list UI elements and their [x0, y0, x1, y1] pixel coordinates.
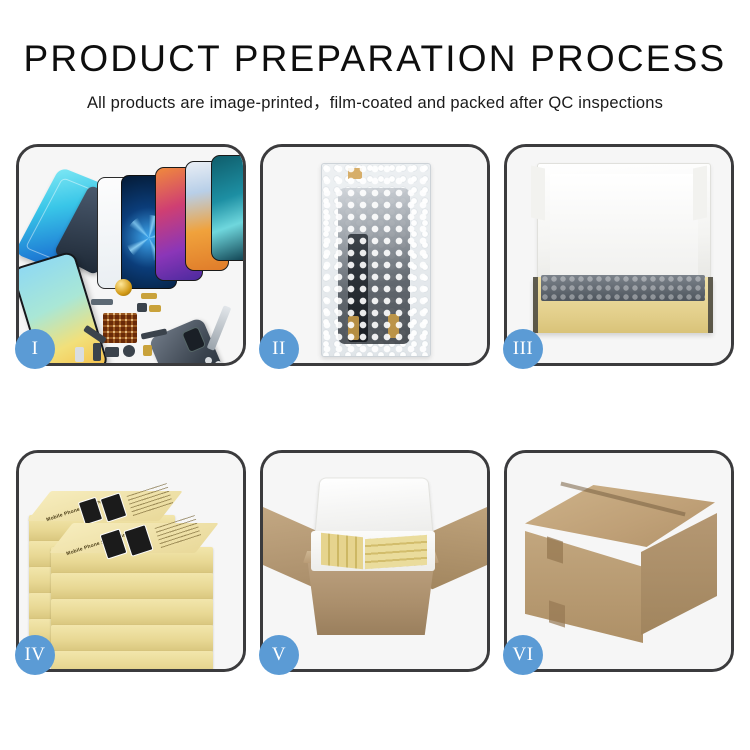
panel-6-image — [507, 453, 731, 669]
box-flap-left-icon — [531, 166, 545, 221]
part-gold-strip-icon — [149, 305, 161, 312]
part-bracket-icon — [93, 343, 101, 361]
step-badge-3: III — [503, 329, 543, 369]
process-step-panel-1[interactable]: I — [16, 144, 246, 366]
process-step-panel-2[interactable]: II — [260, 144, 490, 366]
process-step-grid: I II — [16, 144, 734, 672]
product-preparation-page: PRODUCT PREPARATION PROCESS All products… — [0, 0, 750, 750]
carton-front-face-icon — [525, 531, 643, 643]
part-speaker-icon — [123, 345, 135, 357]
logic-board-icon — [103, 313, 137, 343]
box-edge-right-icon — [708, 277, 713, 333]
carton-tape-bottom-icon — [549, 600, 565, 627]
part-chip-icon — [137, 303, 147, 312]
part-flex-gold-icon — [141, 293, 157, 299]
panel-1-image — [19, 147, 243, 363]
white-box-lid-icon — [537, 163, 711, 289]
screen-teal-wallpaper-icon — [211, 155, 243, 261]
carton-flap-right-icon — [431, 506, 487, 590]
part-camera-icon — [75, 347, 84, 362]
part-sim-tray-icon — [143, 345, 152, 356]
part-screw-icon — [205, 357, 212, 363]
bubble-wrapped-contents-icon — [541, 275, 705, 301]
stacked-box-icon — [51, 573, 213, 600]
step-badge-5: V — [259, 635, 299, 675]
part-connector-icon — [91, 299, 113, 305]
bag-tape-icon — [348, 168, 362, 179]
stacked-box-icon — [51, 599, 213, 626]
step-badge-2: II — [259, 329, 299, 369]
step-badge-1: I — [15, 329, 55, 369]
wrapped-gold-contact-2-icon — [388, 314, 399, 338]
process-step-panel-6[interactable]: VI — [504, 450, 734, 672]
box-edge-left-icon — [533, 277, 538, 333]
stacked-box-icon — [51, 651, 213, 669]
box-stack-illustration: Mobile Phone Spare Parts Mobile Phone Sp… — [23, 463, 243, 663]
box-flap-right-icon — [693, 166, 707, 221]
process-step-panel-4[interactable]: Mobile Phone Spare Parts Mobile Phone Sp… — [16, 450, 246, 672]
panel-5-image — [263, 453, 487, 669]
foam-lid-icon — [314, 478, 434, 538]
step-badge-6: VI — [503, 635, 543, 675]
packed-yellow-boxes-right-icon — [365, 535, 427, 569]
step-badge-4: IV — [15, 635, 55, 675]
wrapped-gold-contact-icon — [348, 316, 359, 340]
panel-2-image — [263, 147, 487, 363]
stacked-box-icon — [51, 625, 213, 652]
process-step-panel-3[interactable]: III — [504, 144, 734, 366]
phone-parts-illustration — [19, 147, 243, 363]
page-header: PRODUCT PREPARATION PROCESS All products… — [0, 0, 750, 113]
repair-tool-icon — [207, 305, 232, 351]
wireless-coil-icon — [115, 279, 132, 296]
part-module-icon — [105, 347, 119, 357]
panel-4-image: Mobile Phone Spare Parts Mobile Phone Sp… — [19, 453, 243, 669]
panel-3-image — [507, 147, 731, 363]
packed-yellow-boxes-left-icon — [321, 533, 363, 569]
part-screw-2-icon — [215, 361, 222, 363]
page-title: PRODUCT PREPARATION PROCESS — [0, 0, 750, 79]
bubble-wrap-bag-icon — [321, 163, 431, 357]
process-step-panel-5[interactable]: V — [260, 450, 490, 672]
page-subtitle: All products are image-printed，film-coat… — [0, 79, 750, 113]
